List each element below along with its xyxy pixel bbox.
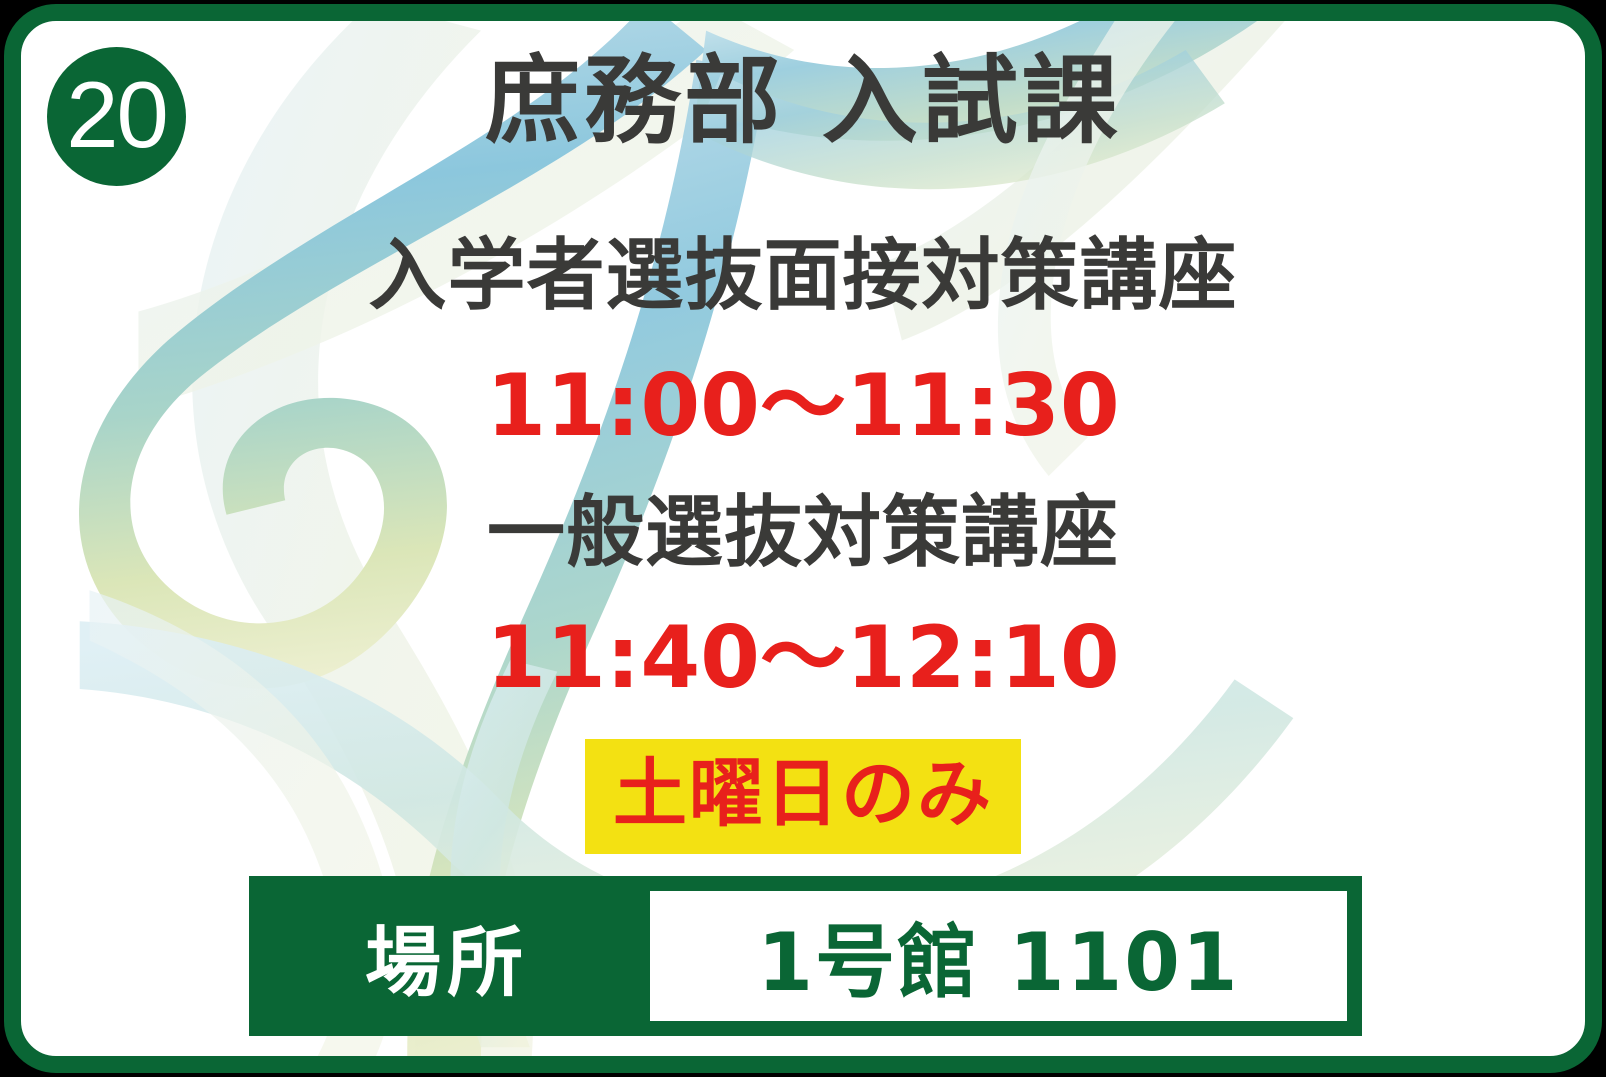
session-name-2: 一般選抜対策講座 — [21, 493, 1585, 575]
location-label: 場所 — [249, 876, 645, 1036]
session-time-1: 11:00〜11:30 — [21, 361, 1585, 451]
poster-root: 20 庶務部 入試課 入学者選抜面接対策講座 11:00〜11:30 一般選抜対… — [0, 0, 1606, 1077]
location-bar: 場所 1号館 1101 — [249, 876, 1362, 1036]
department-title: 庶務部 入試課 — [21, 49, 1585, 155]
schedule-note-wrapper: 土曜日のみ — [21, 739, 1585, 854]
number-badge: 20 — [47, 47, 186, 186]
location-value-box: 1号館 1101 — [645, 886, 1352, 1026]
badge-number-label: 20 — [66, 68, 167, 162]
poster-content: 庶務部 入試課 入学者選抜面接対策講座 11:00〜11:30 一般選抜対策講座… — [21, 21, 1585, 1056]
poster-frame: 20 庶務部 入試課 入学者選抜面接対策講座 11:00〜11:30 一般選抜対… — [4, 4, 1602, 1073]
session-time-2: 11:40〜12:10 — [21, 613, 1585, 703]
session-name-1: 入学者選抜面接対策講座 — [21, 236, 1585, 318]
schedule-note-badge: 土曜日のみ — [585, 739, 1021, 854]
location-value: 1号館 1101 — [757, 898, 1239, 1014]
